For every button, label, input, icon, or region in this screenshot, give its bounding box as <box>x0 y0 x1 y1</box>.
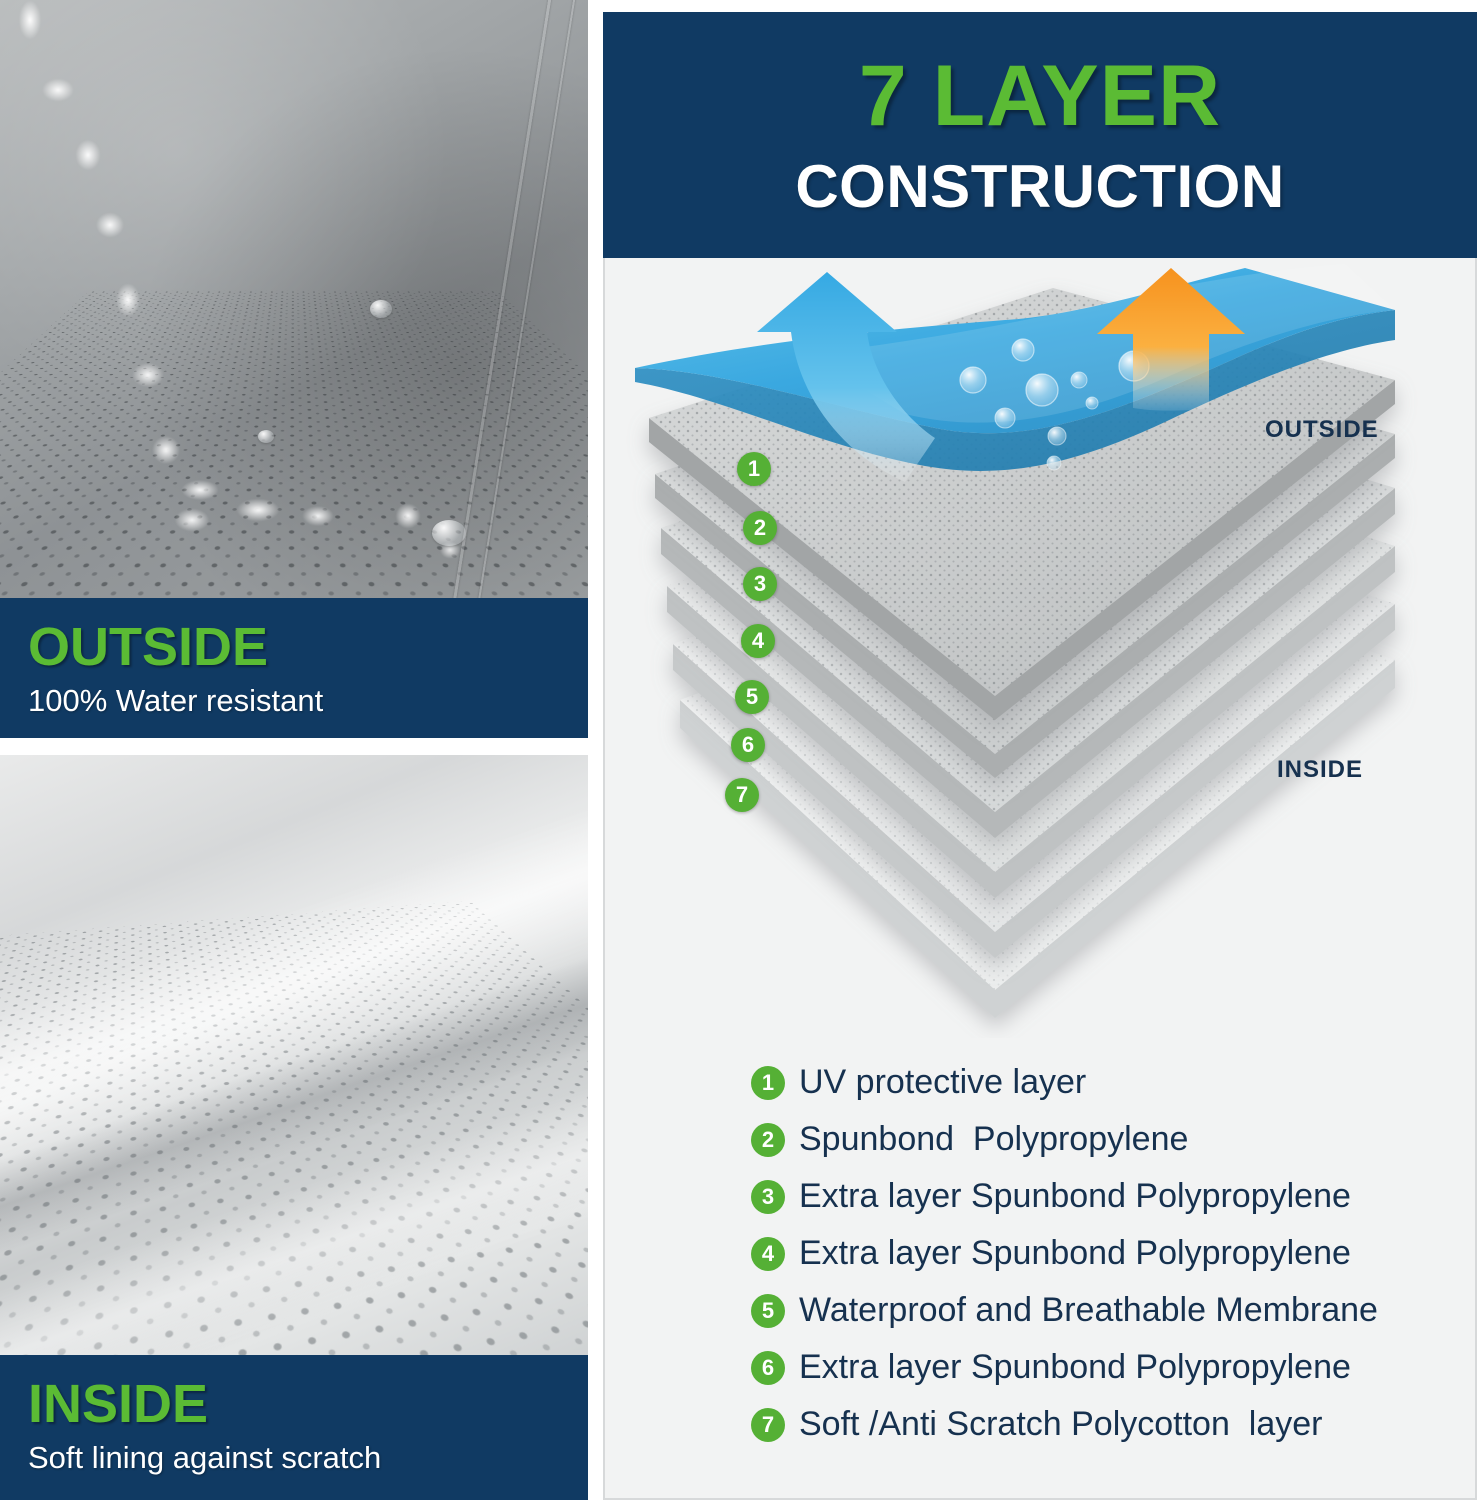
legend-label-3: Extra layer Spunbond Polypropylene <box>799 1178 1351 1215</box>
legend-label-6: Extra layer Spunbond Polypropylene <box>799 1349 1351 1386</box>
layer-stack-diagram: OUTSIDE INSIDE 1 2 3 4 5 6 7 <box>605 258 1475 1038</box>
panel-header-subtitle: CONSTRUCTION <box>795 157 1284 217</box>
legend-badge-7: 7 <box>751 1408 785 1442</box>
legend-label-7: Soft /Anti Scratch Polycotton layer <box>799 1406 1322 1443</box>
panel-header-title: 7 LAYER <box>859 53 1221 139</box>
inside-caption-title: INSIDE <box>28 1377 588 1431</box>
inside-caption-bar: INSIDE Soft lining against scratch <box>0 1355 588 1500</box>
diagram-layer-badge-6: 6 <box>731 728 765 762</box>
diagram-layer-badge-7: 7 <box>725 778 759 812</box>
legend-badge-2: 2 <box>751 1123 785 1157</box>
soft-lining-fabric-photo <box>0 755 588 1355</box>
legend-item-4: 4 Extra layer Spunbond Polypropylene <box>751 1225 1451 1282</box>
outside-caption-subtitle: 100% Water resistant <box>28 684 588 718</box>
diagram-layer-badge-5: 5 <box>735 680 769 714</box>
construction-panel: 7 LAYER CONSTRUCTION <box>603 12 1477 1500</box>
diagram-layer-badge-2: 2 <box>743 511 777 545</box>
legend-badge-3: 3 <box>751 1180 785 1214</box>
inside-caption-subtitle: Soft lining against scratch <box>28 1441 588 1475</box>
water-beading-fabric-photo <box>0 0 588 598</box>
legend-badge-5: 5 <box>751 1294 785 1328</box>
water-stream-lower-icon <box>150 430 530 610</box>
diagram-layer-badge-1: 1 <box>737 452 771 486</box>
left-photo-column: OUTSIDE 100% Water resistant INSIDE Soft… <box>0 0 588 1500</box>
legend-item-6: 6 Extra layer Spunbond Polypropylene <box>751 1339 1451 1396</box>
legend-label-2: Spunbond Polypropylene <box>799 1121 1188 1158</box>
outside-caption-title: OUTSIDE <box>28 620 588 674</box>
legend-badge-1: 1 <box>751 1066 785 1100</box>
water-droplet-icon <box>258 430 274 443</box>
light-dotted-fabric-texture <box>0 755 588 1355</box>
infographic-page: OUTSIDE 100% Water resistant INSIDE Soft… <box>0 0 1477 1500</box>
diagram-inside-label: INSIDE <box>1277 756 1363 784</box>
panel-header: 7 LAYER CONSTRUCTION <box>603 12 1477 258</box>
legend-label-1: UV protective layer <box>799 1064 1086 1101</box>
legend-item-2: 2 Spunbond Polypropylene <box>751 1111 1451 1168</box>
legend-badge-4: 4 <box>751 1237 785 1271</box>
inside-photo-card: INSIDE Soft lining against scratch <box>0 755 588 1500</box>
layer-legend-list: 1 UV protective layer 2 Spunbond Polypro… <box>751 1054 1451 1453</box>
diagram-outside-label: OUTSIDE <box>1265 416 1379 444</box>
legend-badge-6: 6 <box>751 1351 785 1385</box>
legend-label-4: Extra layer Spunbond Polypropylene <box>799 1235 1351 1272</box>
legend-item-5: 5 Waterproof and Breathable Membrane <box>751 1282 1451 1339</box>
water-droplet-icon <box>432 520 466 546</box>
legend-label-5: Waterproof and Breathable Membrane <box>799 1292 1378 1329</box>
panel-body: OUTSIDE INSIDE 1 2 3 4 5 6 7 1 UV protec… <box>603 258 1477 1500</box>
diagram-layer-badge-4: 4 <box>741 624 775 658</box>
water-droplet-icon <box>370 300 392 318</box>
legend-item-1: 1 UV protective layer <box>751 1054 1451 1111</box>
outside-caption-bar: OUTSIDE 100% Water resistant <box>0 598 588 738</box>
diagram-layer-badge-3: 3 <box>743 567 777 601</box>
legend-item-3: 3 Extra layer Spunbond Polypropylene <box>751 1168 1451 1225</box>
legend-item-7: 7 Soft /Anti Scratch Polycotton layer <box>751 1396 1451 1453</box>
outside-photo-card: OUTSIDE 100% Water resistant <box>0 0 588 738</box>
